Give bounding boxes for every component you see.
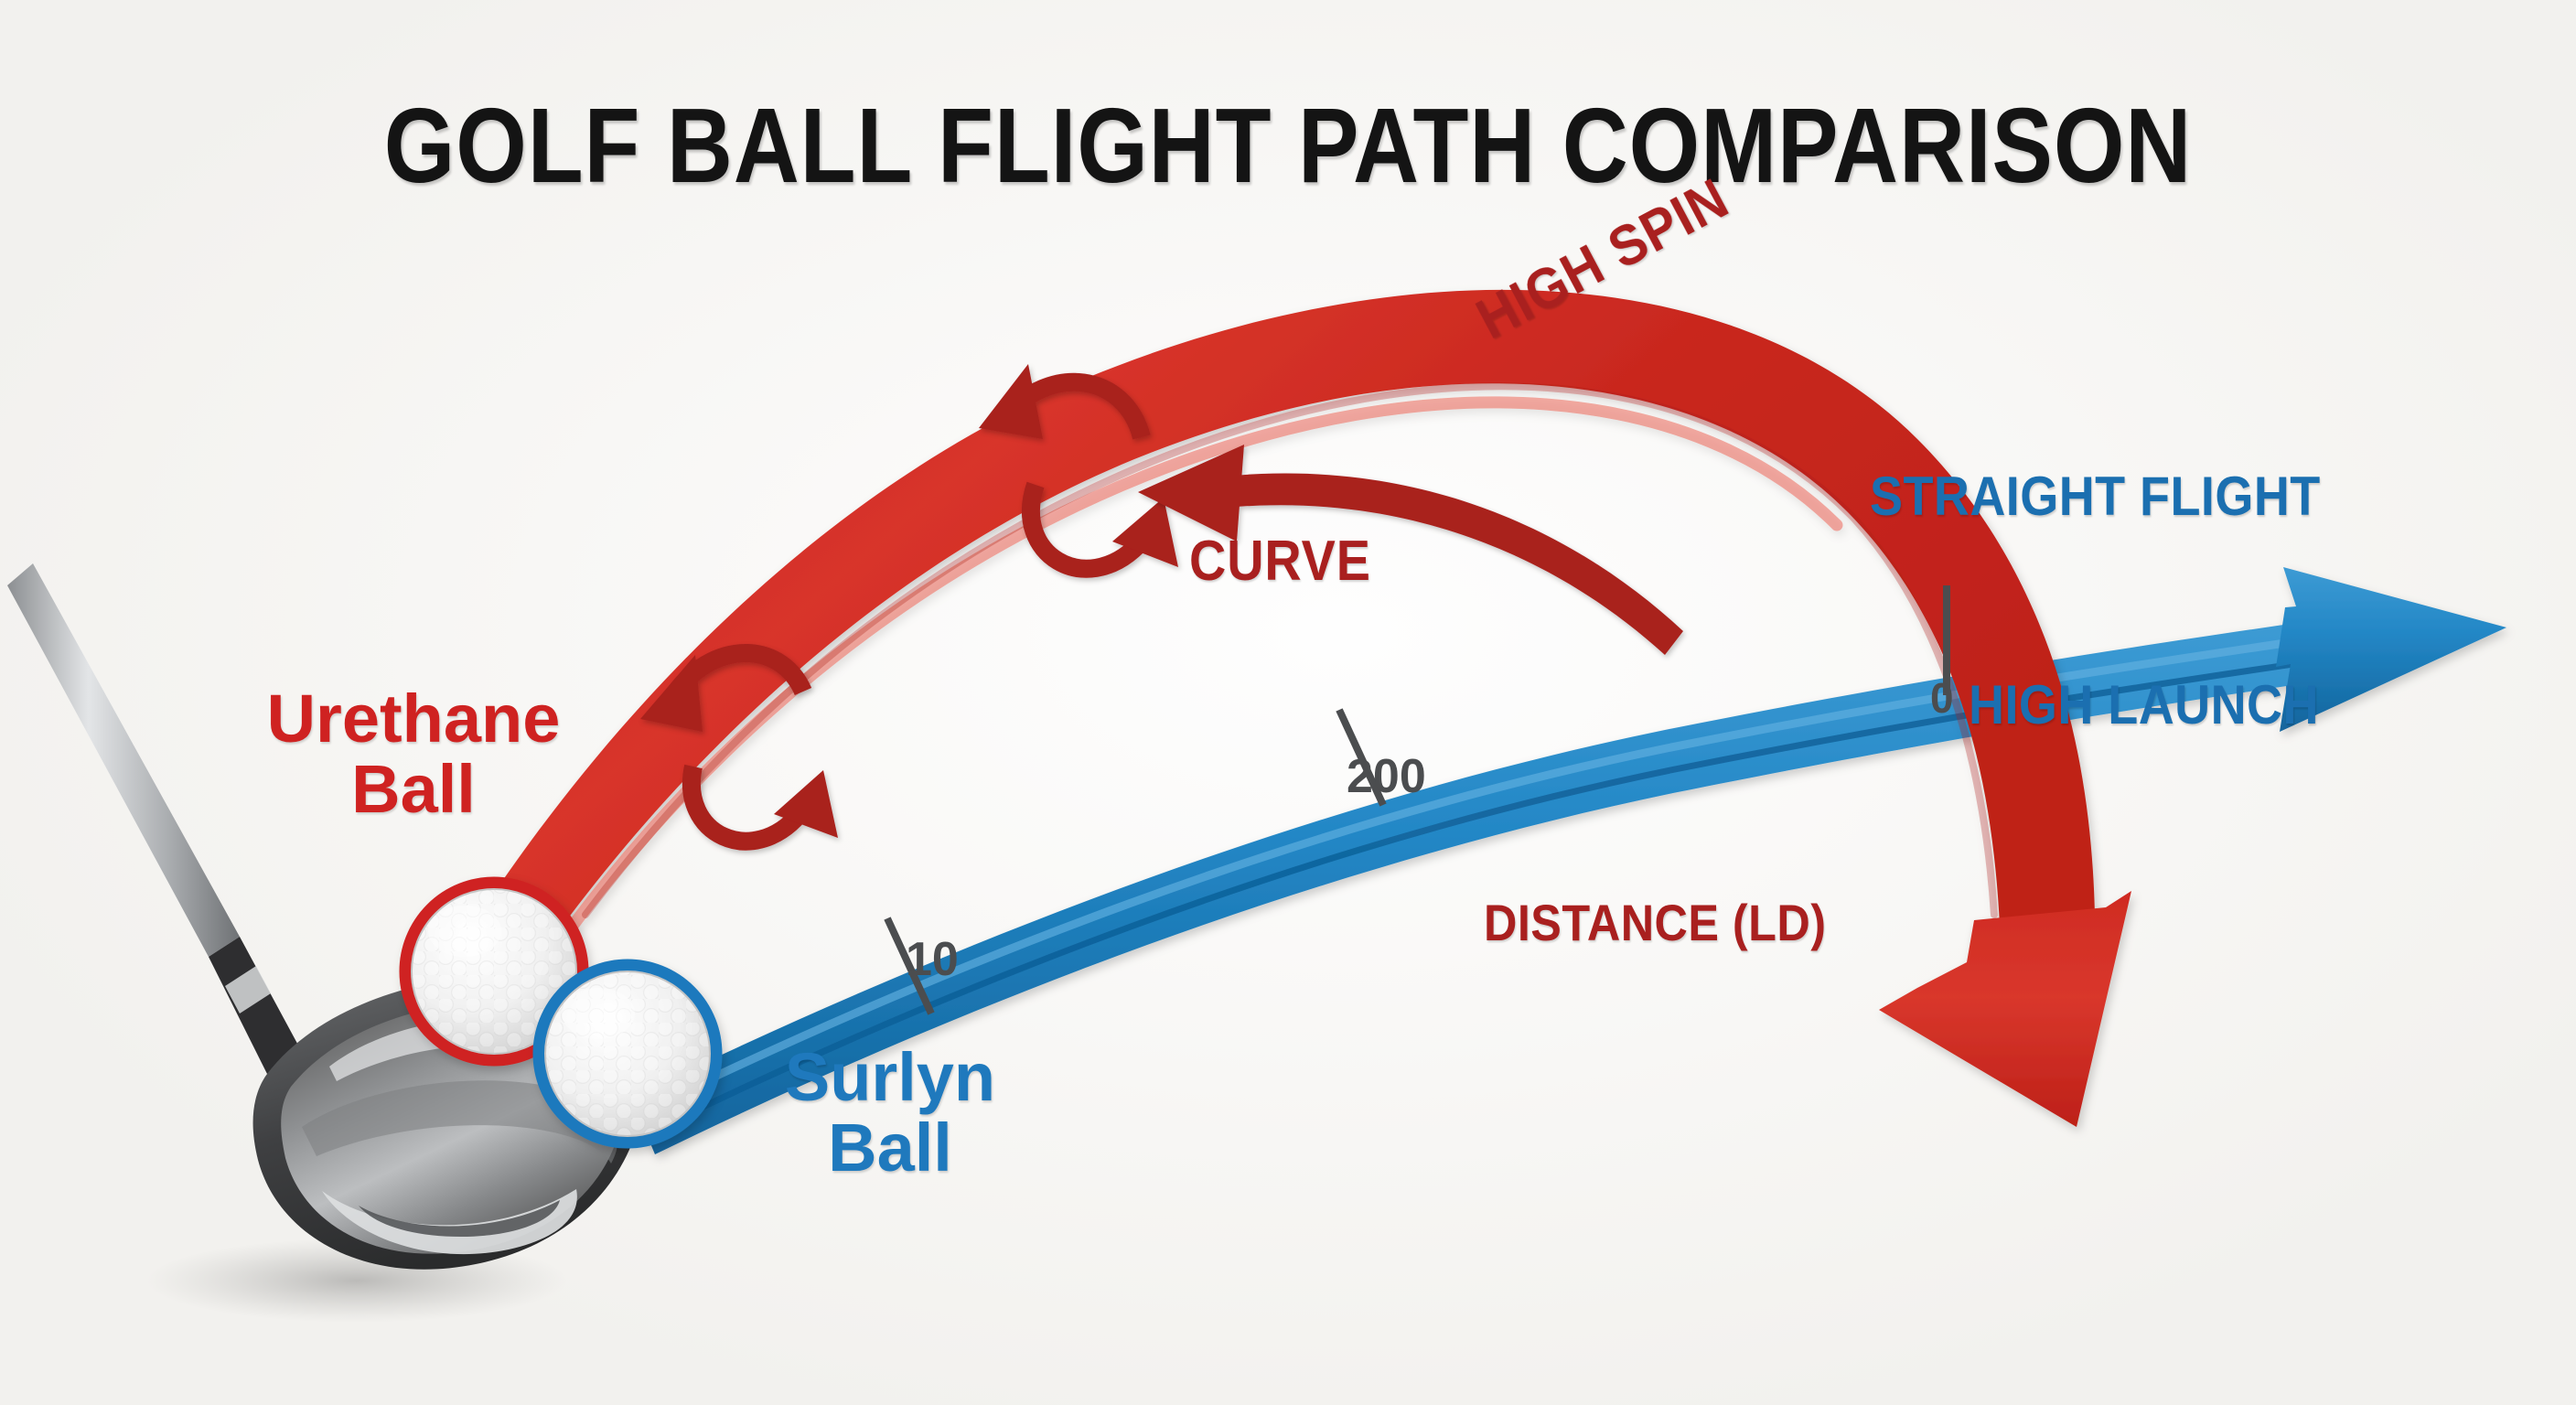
label-surlyn-ball: Surlyn Ball bbox=[739, 1043, 1041, 1184]
tick-label-0: 0 bbox=[1930, 677, 1954, 721]
label-distance: DISTANCE (LD) bbox=[1484, 896, 1826, 949]
tick-label-10: 10 bbox=[906, 935, 959, 984]
label-high-launch: HIGH LAUNCH bbox=[1969, 677, 2319, 734]
surlyn-line-2: Ball bbox=[739, 1113, 1041, 1184]
golf-ball-icon bbox=[540, 966, 715, 1142]
surlyn-line-1: Surlyn bbox=[739, 1043, 1041, 1113]
infographic-canvas: GOLF BALL FLIGHT PATH COMPARISON bbox=[0, 0, 2576, 1405]
red-arrowhead-icon bbox=[1879, 891, 2131, 1127]
label-urethane-ball: Urethane Ball bbox=[249, 684, 578, 825]
label-curve: CURVE bbox=[1189, 532, 1371, 591]
urethane-line-2: Ball bbox=[249, 755, 578, 825]
label-straight-flight: STRAIGHT FLIGHT bbox=[1870, 468, 2321, 525]
tick-label-200: 200 bbox=[1347, 752, 1426, 801]
urethane-line-1: Urethane bbox=[249, 684, 578, 755]
